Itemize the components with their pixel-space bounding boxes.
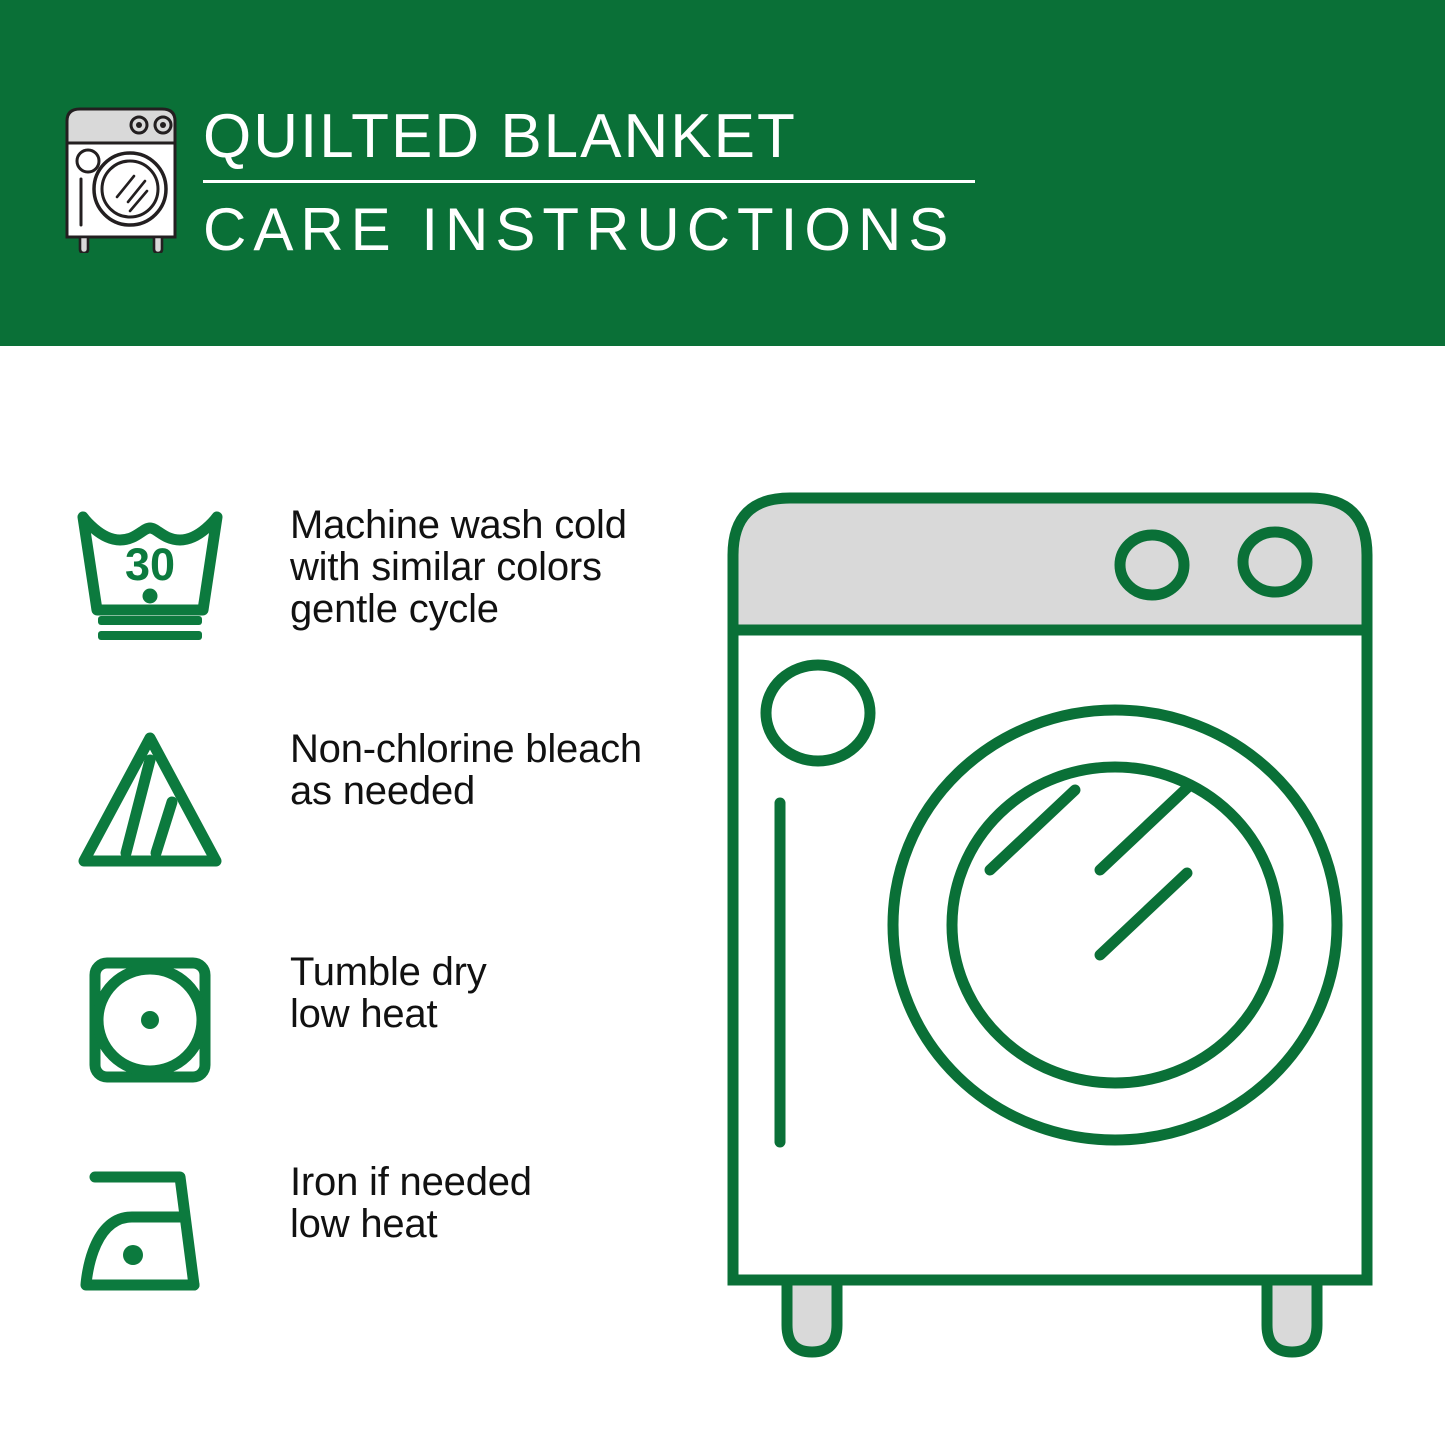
page-subtitle: CARE INSTRUCTIONS bbox=[203, 197, 993, 263]
tumble-dry-low-heat-icon bbox=[60, 945, 240, 1095]
care-text-machine-wash: Machine wash cold with similar colors ge… bbox=[290, 498, 627, 630]
wash-tub-30-gentle-icon: 30 bbox=[60, 498, 240, 648]
care-text-tumble-dry: Tumble dry low heat bbox=[290, 945, 487, 1035]
wash-temp-label: 30 bbox=[125, 539, 175, 590]
header-text-block: QUILTED BLANKET CARE INSTRUCTIONS bbox=[203, 100, 993, 263]
header-banner: QUILTED BLANKET CARE INSTRUCTIONS bbox=[0, 0, 1445, 346]
care-row-tumble-dry: Tumble dry low heat bbox=[60, 945, 700, 1095]
care-text-bleach: Non-chlorine bleach as needed bbox=[290, 722, 642, 812]
title-divider bbox=[203, 180, 975, 183]
care-row-iron: Iron if needed low heat bbox=[60, 1155, 700, 1305]
front-load-washing-machine-illustration bbox=[700, 470, 1400, 1370]
iron-low-heat-icon bbox=[60, 1155, 240, 1305]
page-title: QUILTED BLANKET bbox=[203, 100, 993, 174]
triangle-non-chlorine-bleach-icon bbox=[60, 722, 240, 872]
care-text-iron: Iron if needed low heat bbox=[290, 1155, 532, 1245]
care-instructions-infographic: QUILTED BLANKET CARE INSTRUCTIONS 30 Mac… bbox=[0, 0, 1445, 1445]
washing-machine-icon bbox=[62, 103, 186, 253]
care-row-bleach: Non-chlorine bleach as needed bbox=[60, 722, 700, 872]
care-row-machine-wash: 30 Machine wash cold with similar colors… bbox=[60, 498, 700, 648]
